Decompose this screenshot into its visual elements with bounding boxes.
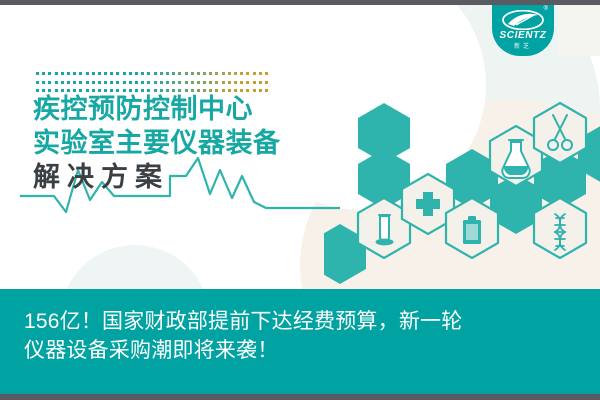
- grid-dot: [123, 89, 126, 92]
- grid-dot: [154, 89, 157, 92]
- grid-dot: [185, 81, 188, 84]
- grid-dot: [61, 89, 64, 92]
- grid-dot: [228, 72, 231, 75]
- grid-dot: [55, 81, 58, 84]
- logo-chinese-name: 新芝: [492, 41, 554, 50]
- grid-dot: [86, 72, 89, 75]
- dot-grid-row: [36, 72, 268, 75]
- grid-dot: [129, 81, 132, 84]
- grid-dot: [104, 72, 107, 75]
- window-chrome-bottom-bar: [0, 394, 600, 400]
- grid-dot: [222, 72, 225, 75]
- grid-dot: [48, 89, 51, 92]
- grid-dot: [129, 72, 132, 75]
- grid-dot: [253, 72, 256, 75]
- grid-dot: [166, 89, 169, 92]
- grid-dot: [166, 81, 169, 84]
- grid-dot: [259, 81, 262, 84]
- grid-dot: [160, 72, 163, 75]
- headline-line-2: 实验室主要仪器装备: [33, 130, 281, 157]
- grid-dot: [172, 89, 175, 92]
- grid-dot: [185, 72, 188, 75]
- grid-dot: [166, 72, 169, 75]
- registered-trademark-icon: ®: [544, 6, 548, 12]
- grid-dot: [36, 72, 39, 75]
- grid-dot: [209, 81, 212, 84]
- grid-dot: [92, 81, 95, 84]
- grid-dot: [154, 81, 157, 84]
- grid-dot: [123, 81, 126, 84]
- grid-dot: [178, 72, 181, 75]
- promo-poster: 疾控预防控制中心 实验室主要仪器装备 解决方案 ® SCIENTZ 新芝 156…: [0, 0, 600, 400]
- grid-dot: [215, 89, 218, 92]
- grid-dot: [265, 89, 268, 92]
- grid-dot: [98, 72, 101, 75]
- grid-dot: [73, 81, 76, 84]
- grid-dot: [246, 72, 249, 75]
- grid-dot: [160, 89, 163, 92]
- dot-grid-row: [36, 81, 268, 84]
- grid-dot: [253, 81, 256, 84]
- grid-dot: [246, 81, 249, 84]
- logo-backdrop-panel: [558, 0, 600, 56]
- banner-line-1: 156亿！国家财政部提前下达经费预算，新一轮: [24, 308, 576, 337]
- grid-dot: [79, 89, 82, 92]
- grid-dot: [191, 81, 194, 84]
- dot-grid-row: [36, 89, 268, 92]
- grid-dot: [147, 81, 150, 84]
- grid-dot: [203, 72, 206, 75]
- grid-dot: [92, 89, 95, 92]
- headline-line-1: 疾控预防控制中心: [33, 96, 281, 123]
- grid-dot: [55, 72, 58, 75]
- announcement-banner: 156亿！国家财政部提前下达经费预算，新一轮 仪器设备采购潮即将来袭！: [0, 289, 600, 394]
- grid-dot: [265, 81, 268, 84]
- dot-grid-decoration: [36, 72, 268, 92]
- grid-dot: [61, 72, 64, 75]
- grid-dot: [265, 72, 268, 75]
- grid-dot: [240, 72, 243, 75]
- grid-dot: [154, 72, 157, 75]
- grid-dot: [67, 89, 70, 92]
- grid-dot: [135, 81, 138, 84]
- grid-dot: [209, 89, 212, 92]
- grid-dot: [92, 72, 95, 75]
- grid-dot: [55, 89, 58, 92]
- grid-dot: [98, 81, 101, 84]
- grid-dot: [228, 89, 231, 92]
- hexagon-icon-cluster: [324, 98, 600, 303]
- grid-dot: [79, 81, 82, 84]
- grid-dot: [147, 72, 150, 75]
- grid-dot: [178, 81, 181, 84]
- grid-dot: [240, 81, 243, 84]
- grid-dot: [86, 81, 89, 84]
- grid-dot: [73, 89, 76, 92]
- grid-dot: [141, 89, 144, 92]
- grid-dot: [172, 72, 175, 75]
- grid-dot: [185, 89, 188, 92]
- grid-dot: [116, 89, 119, 92]
- grid-dot: [135, 89, 138, 92]
- grid-dot: [141, 81, 144, 84]
- grid-dot: [73, 72, 76, 75]
- banner-line-2: 仪器设备采购潮即将来袭！: [24, 337, 576, 366]
- grid-dot: [42, 81, 45, 84]
- grid-dot: [240, 89, 243, 92]
- grid-dot: [104, 89, 107, 92]
- grid-dot: [215, 81, 218, 84]
- headline-block: 疾控预防控制中心 实验室主要仪器装备 解决方案: [33, 96, 281, 191]
- grid-dot: [191, 72, 194, 75]
- grid-dot: [191, 89, 194, 92]
- grid-dot: [42, 72, 45, 75]
- grid-dot: [36, 81, 39, 84]
- grid-dot: [172, 81, 175, 84]
- grid-dot: [110, 81, 113, 84]
- grid-dot: [67, 72, 70, 75]
- grid-dot: [234, 72, 237, 75]
- grid-dot: [259, 89, 262, 92]
- grid-dot: [222, 89, 225, 92]
- grid-dot: [61, 81, 64, 84]
- grid-dot: [36, 89, 39, 92]
- scientz-shield-logo[interactable]: ® SCIENTZ 新芝: [492, 0, 554, 56]
- grid-dot: [228, 81, 231, 84]
- grid-dot: [222, 81, 225, 84]
- logo-swoosh-icon: [502, 10, 544, 30]
- grid-dot: [160, 81, 163, 84]
- grid-dot: [253, 89, 256, 92]
- window-chrome-top-bar: [0, 0, 600, 5]
- grid-dot: [141, 72, 144, 75]
- grid-dot: [116, 81, 119, 84]
- logo-wordmark: SCIENTZ: [492, 30, 554, 41]
- grid-dot: [203, 81, 206, 84]
- grid-dot: [123, 72, 126, 75]
- grid-dot: [98, 89, 101, 92]
- grid-dot: [147, 89, 150, 92]
- headline-line-3: 解决方案: [33, 164, 281, 191]
- grid-dot: [116, 72, 119, 75]
- grid-dot: [234, 89, 237, 92]
- grid-dot: [67, 81, 70, 84]
- grid-dot: [48, 81, 51, 84]
- grid-dot: [209, 72, 212, 75]
- grid-dot: [215, 72, 218, 75]
- grid-dot: [110, 72, 113, 75]
- grid-dot: [79, 72, 82, 75]
- grid-dot: [48, 72, 51, 75]
- grid-dot: [110, 89, 113, 92]
- grid-dot: [246, 89, 249, 92]
- grid-dot: [129, 89, 132, 92]
- grid-dot: [135, 72, 138, 75]
- grid-dot: [234, 81, 237, 84]
- grid-dot: [197, 72, 200, 75]
- clipboard-icon: [463, 216, 481, 244]
- grid-dot: [203, 89, 206, 92]
- grid-dot: [104, 81, 107, 84]
- grid-dot: [197, 81, 200, 84]
- grid-dot: [86, 89, 89, 92]
- grid-dot: [42, 89, 45, 92]
- grid-dot: [197, 89, 200, 92]
- grid-dot: [259, 72, 262, 75]
- grid-dot: [178, 89, 181, 92]
